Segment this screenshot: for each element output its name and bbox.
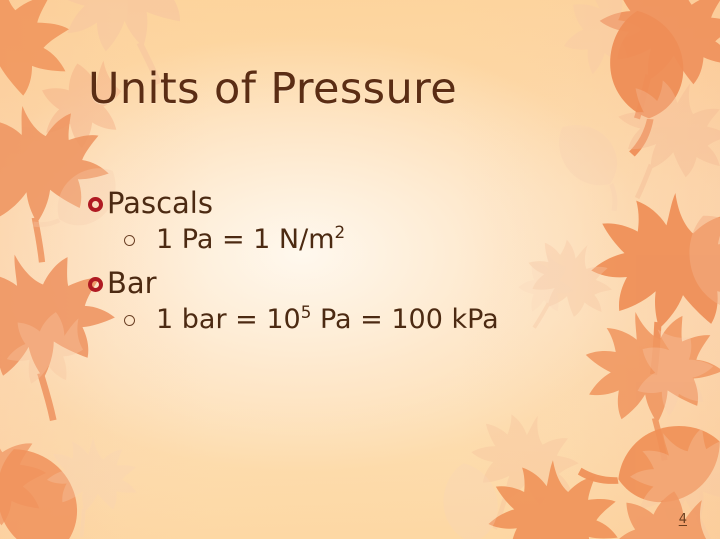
presentation-slide: Units of Pressure Pascals 1 Pa = 1 N/m2 … [0, 0, 720, 539]
ring-bullet-icon [88, 197, 103, 212]
bullet-label-pascals: Pascals [107, 186, 213, 220]
pascal-definition-text: 1 Pa = 1 N/m [156, 224, 335, 255]
slide-body-content: Pascals 1 Pa = 1 N/m2 Bar 1 bar = 105 Pa… [88, 186, 648, 342]
page-number: 4 [679, 512, 687, 527]
bullet-label-bar: Bar [107, 266, 157, 300]
bar-definition-text-after: Pa = 100 kPa [311, 304, 498, 335]
hollow-circle-bullet-icon [124, 315, 135, 326]
bullet-item-pascals: Pascals [88, 186, 648, 220]
ring-bullet-icon [88, 277, 103, 292]
pascal-definition-superscript: 2 [335, 222, 346, 242]
bar-definition-text-before: 1 bar = 10 [156, 304, 301, 335]
bullet-item-bar: Bar [88, 266, 648, 300]
bullet-item-pascal-definition: 1 Pa = 1 N/m2 [124, 224, 648, 256]
hollow-circle-bullet-icon [124, 235, 135, 246]
page-title: Units of Pressure [88, 64, 457, 114]
bullet-label-bar-definition: 1 bar = 105 Pa = 100 kPa [156, 304, 499, 336]
bar-definition-superscript: 5 [301, 302, 312, 322]
bullet-item-bar-definition: 1 bar = 105 Pa = 100 kPa [124, 304, 648, 336]
bullet-label-pascal-definition: 1 Pa = 1 N/m2 [156, 224, 345, 256]
